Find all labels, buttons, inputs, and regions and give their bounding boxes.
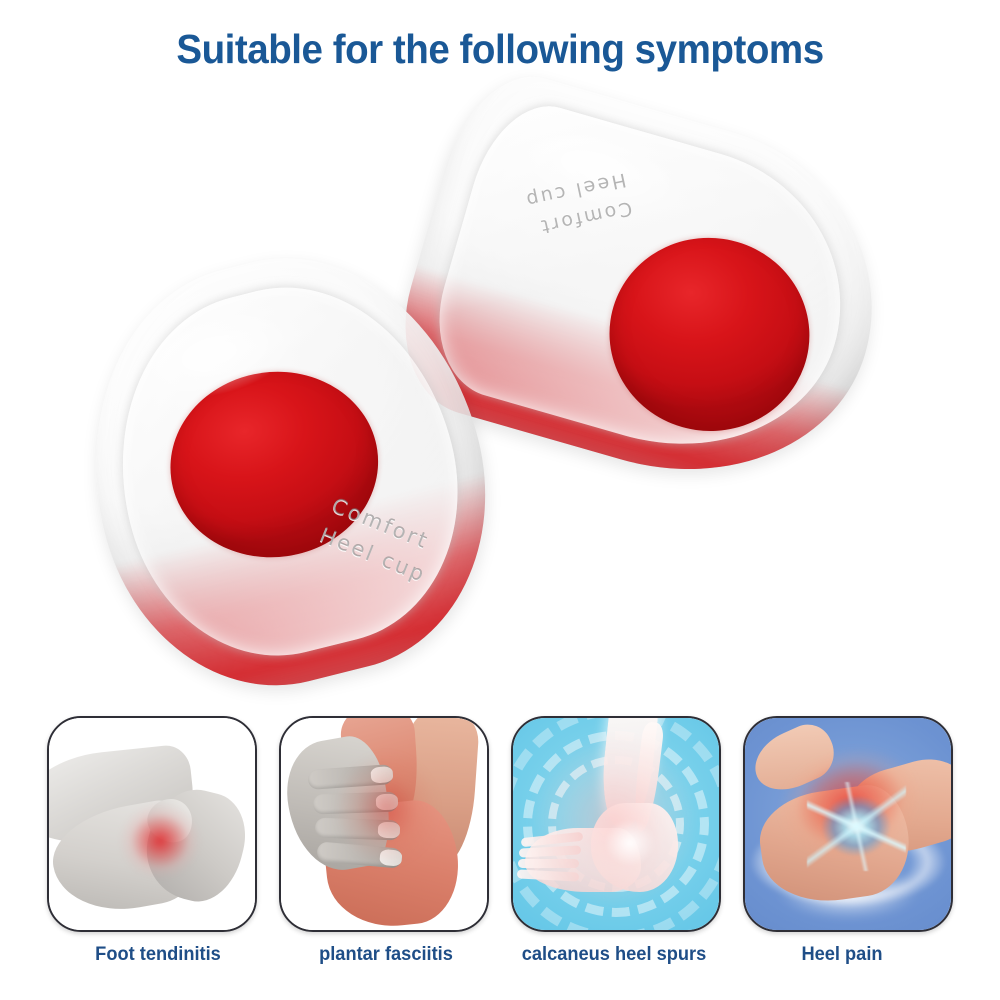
caption-heel-pain: Heel pain (743, 944, 941, 984)
plantar-fasciitis-image (281, 718, 487, 930)
symptom-card-plantar-fasciitis[interactable] (279, 716, 489, 932)
pain-glow (119, 803, 201, 879)
symptom-caption-row: Foot tendinitis plantar fasciitis calcan… (0, 944, 1000, 984)
symptom-card-calcaneus-heel-spurs[interactable] (511, 716, 721, 932)
symptom-card-foot-tendinitis[interactable] (47, 716, 257, 932)
product-hero: Comfort Heel cup Comfort Heel cup (0, 110, 1000, 680)
symptom-card-row (0, 716, 1000, 936)
caption-plantar-fasciitis: plantar fasciitis (287, 944, 485, 984)
symptom-card-heel-pain[interactable] (743, 716, 953, 932)
caption-foot-tendinitis: Foot tendinitis (59, 944, 257, 984)
pain-glow (335, 752, 438, 866)
calcaneus-heel-spurs-image (513, 718, 719, 930)
foot-tendinitis-image (49, 718, 255, 930)
heel-pain-image (745, 718, 951, 930)
caption-calcaneus-heel-spurs: calcaneus heel spurs (515, 944, 713, 984)
pain-glow (595, 811, 665, 875)
energy-sparks (807, 782, 906, 871)
